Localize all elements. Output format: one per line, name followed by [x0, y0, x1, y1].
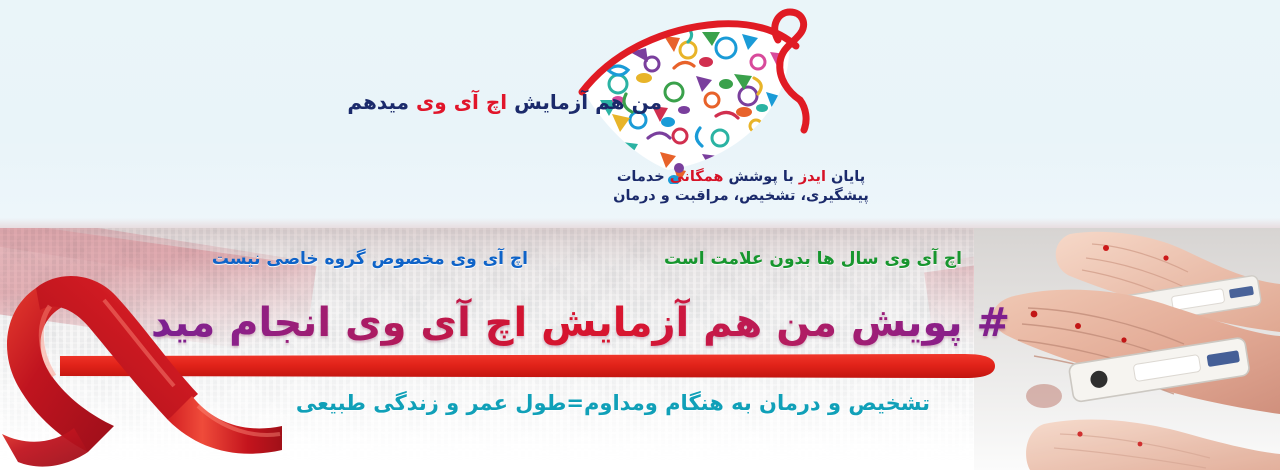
tagline-green: اچ آی وی سال ها بدون علامت است — [648, 246, 978, 272]
top-slogan: پایان ایدز با پوشش همگانی خدمات پیشگیری،… — [598, 168, 884, 206]
slogan-c: با پوشش — [723, 169, 798, 185]
campaign-headline: # پویش من هم آزمایش اچ آی وی انجام میدهم — [150, 292, 1010, 354]
aids-ribbon-graphic — [0, 254, 282, 470]
tagline-teal: تشخیص و درمان به هنگام ومداوم=طول عمر و … — [370, 386, 930, 420]
ribbon-tail-left — [2, 428, 88, 467]
top-slogan-line2: پیشگیری، تشخیص، مراقبت و درمان — [598, 187, 884, 206]
slogan-a: پایان — [826, 169, 865, 185]
hands-with-test-kits-photo — [974, 228, 1280, 470]
umbrella-handle-tail — [800, 100, 806, 130]
top-slogan-line1: پایان ایدز با پوشش همگانی خدمات — [598, 168, 884, 187]
top-headline: من هم آزمایش اچ آی وی میدهم — [386, 86, 662, 118]
top-section: من هم آزمایش اچ آی وی میدهم پایان ایدز ب… — [0, 0, 1280, 228]
red-aids-ribbon — [0, 254, 282, 470]
slogan-d: همگانی — [670, 169, 724, 185]
top-headline-highlight: اچ آی وی — [416, 90, 507, 114]
top-headline-prefix: من هم آزمایش — [507, 90, 662, 114]
top-headline-suffix: میدهم — [347, 90, 416, 114]
slogan-e: خدمات — [617, 169, 670, 185]
tagline-blue: اچ آی وی مخصوص گروه خاصی نیست — [228, 246, 528, 272]
hands-graphic — [974, 228, 1280, 470]
hiv-awareness-banner: من هم آزمایش اچ آی وی میدهم پایان ایدز ب… — [0, 0, 1280, 470]
slogan-b: ایدز — [799, 169, 826, 185]
